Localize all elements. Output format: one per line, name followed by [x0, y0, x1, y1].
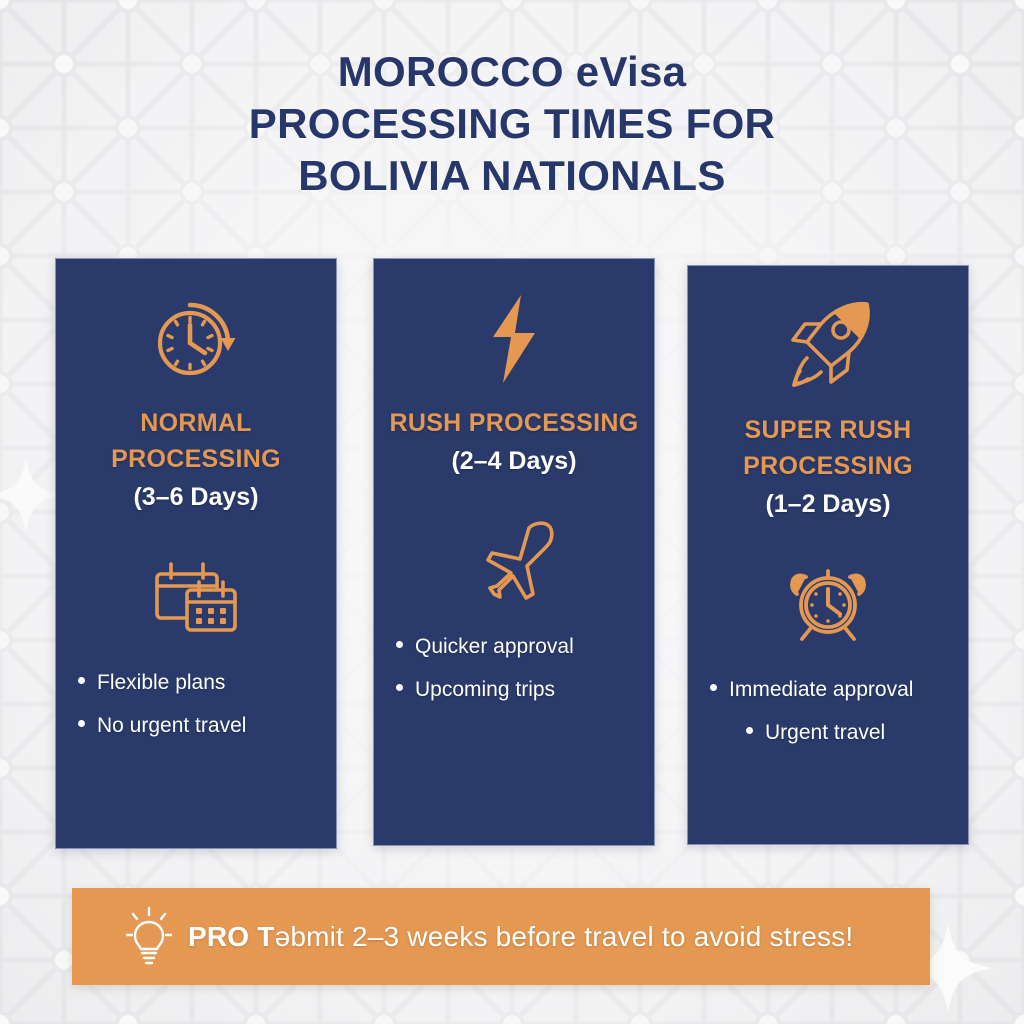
lightning-bolt-icon — [483, 291, 545, 387]
card-benefits-normal: Flexible plans No urgent travel — [56, 661, 336, 747]
title-line-2: PROCESSING TIMES FOR — [0, 98, 1024, 150]
processing-card-rush[interactable]: RUSH PROCESSING (2–4 Days) Quicker appro… — [373, 258, 655, 846]
list-item: Immediate approval — [710, 668, 913, 711]
card-benefits-super-rush: Immediate approval Urgent travel — [688, 668, 968, 754]
bullet-dot-icon — [78, 677, 85, 684]
infographic-poster: MOROCCO eVisa PROCESSING TIMES FOR BOLIV… — [0, 0, 1024, 1024]
bullet-dot-icon — [396, 684, 403, 691]
title-line-1-main: MOROCCO — [338, 48, 576, 95]
bullet-label: Quicker approval — [415, 625, 574, 668]
list-item: Urgent travel — [746, 711, 885, 754]
bullet-label: Flexible plans — [97, 661, 225, 704]
pro-tip-lead: PRO T — [188, 921, 275, 952]
clock-arrow-icon — [150, 291, 242, 387]
lightbulb-icon — [126, 906, 172, 968]
bullet-dot-icon — [746, 727, 753, 734]
list-item: Upcoming trips — [396, 668, 555, 711]
processing-card-super-rush[interactable]: SUPER RUSH PROCESSING (1–2 Days) — [687, 265, 969, 845]
rocket-icon — [781, 298, 875, 394]
processing-card-normal[interactable]: NORMAL PROCESSING (3–6 Days) — [55, 258, 337, 849]
bullet-label: Upcoming trips — [415, 668, 555, 711]
bullet-label: Urgent travel — [765, 711, 885, 754]
calendar-icon — [153, 553, 239, 639]
bullet-label: No urgent travel — [97, 704, 246, 747]
title-line-1: MOROCCO eVisa — [0, 46, 1024, 98]
card-benefits-rush: Quicker approval Upcoming trips — [374, 625, 654, 711]
card-duration-super-rush: (1–2 Days) — [765, 486, 890, 522]
poster-title: MOROCCO eVisa PROCESSING TIMES FOR BOLIV… — [0, 46, 1024, 202]
airplane-icon — [471, 517, 557, 603]
list-item: Quicker approval — [396, 625, 574, 668]
list-item: Flexible plans — [78, 661, 225, 704]
bullet-dot-icon — [78, 720, 85, 727]
list-item: No urgent travel — [78, 704, 246, 747]
card-duration-rush: (2–4 Days) — [451, 443, 576, 479]
pro-tip-body: əbmit 2–3 weeks before travel to avoid s… — [275, 921, 854, 952]
processing-options-group: NORMAL PROCESSING (3–6 Days) — [55, 258, 969, 858]
card-heading-normal: NORMAL PROCESSING — [56, 405, 336, 477]
card-heading-rush: RUSH PROCESSING — [380, 405, 649, 441]
pro-tip-banner: PRO Təbmit 2–3 weeks before travel to av… — [72, 888, 930, 985]
card-heading-super-rush: SUPER RUSH PROCESSING — [688, 412, 968, 484]
alarm-clock-icon — [788, 560, 868, 646]
pro-tip-text: PRO Təbmit 2–3 weeks before travel to av… — [188, 920, 853, 954]
card-duration-normal: (3–6 Days) — [133, 479, 258, 515]
bullet-dot-icon — [710, 684, 717, 691]
title-line-3: BOLIVIA NATIONALS — [0, 150, 1024, 202]
title-line-1-evisa: eVisa — [576, 48, 687, 95]
bullet-label: Immediate approval — [729, 668, 913, 711]
bullet-dot-icon — [396, 641, 403, 648]
